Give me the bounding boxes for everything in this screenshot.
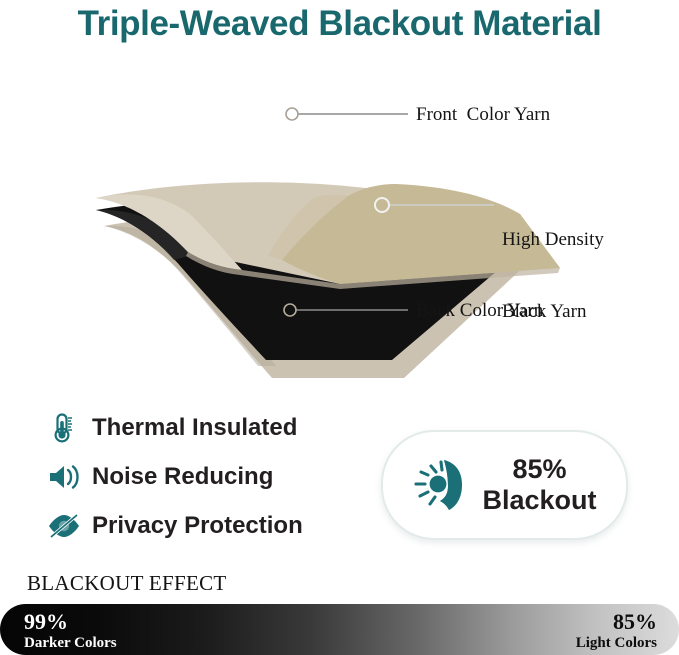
blackout-effect-heading: BLACKOUT EFFECT <box>27 570 227 596</box>
feature-thermal-insulated: Thermal Insulated <box>46 406 376 449</box>
speaker-sound-icon <box>46 459 82 495</box>
callout-label-front-color-yarn: Front Color Yarn <box>416 103 550 127</box>
effect-left-percent: 99% <box>24 610 117 634</box>
badge-caption: Blackout <box>482 485 596 516</box>
sun-behind-curtain-icon <box>412 454 476 516</box>
thermometer-icon <box>46 410 82 446</box>
effect-left-caption: Darker Colors <box>24 634 117 652</box>
blackout-percentage-badge: 85% Blackout <box>381 430 628 540</box>
effect-right-caption: Light Colors <box>576 634 657 652</box>
effect-right-percent: 85% <box>576 610 657 634</box>
feature-privacy-protection: Privacy Protection <box>46 504 376 547</box>
badge-text-block: 85% Blackout <box>482 454 596 516</box>
callout-label-back-color-yarn: Back Color Yarn <box>416 299 543 323</box>
callout-label-high-density-black-yarn: High Density Black Yarn <box>502 180 604 372</box>
callout-label-line1: High Density <box>502 228 604 252</box>
infographic-page: Triple-Weaved Blackout Material <box>0 0 679 655</box>
badge-percent: 85% <box>482 454 596 485</box>
feature-label: Noise Reducing <box>92 463 273 491</box>
feature-label: Thermal Insulated <box>92 414 297 442</box>
feature-noise-reducing: Noise Reducing <box>46 455 376 498</box>
effect-left-group: 99% Darker Colors <box>24 610 117 652</box>
blackout-effect-gradient-bar: 99% Darker Colors 85% Light Colors <box>0 604 679 655</box>
eye-slash-icon <box>46 508 82 544</box>
feature-label: Privacy Protection <box>92 512 303 540</box>
callout-marker-front <box>286 108 298 120</box>
feature-list: Thermal Insulated Noise Reducing <box>46 406 376 553</box>
effect-right-group: 85% Light Colors <box>576 610 657 652</box>
page-title: Triple-Weaved Blackout Material <box>0 2 679 46</box>
